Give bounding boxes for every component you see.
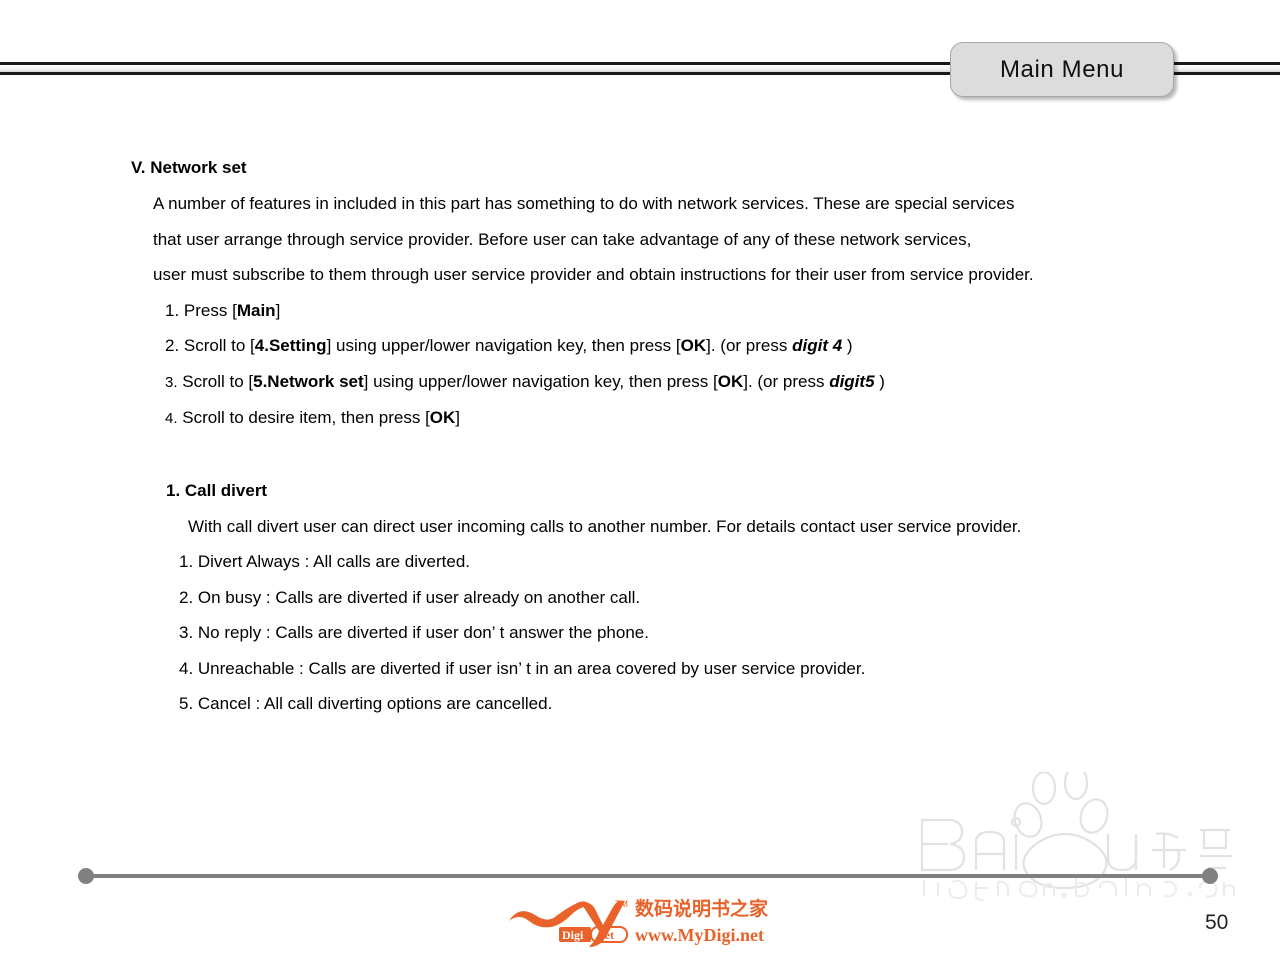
document-content: V. Network set A number of features in i… [0, 150, 1280, 722]
step-text-mid: ] using upper/lower navigation key, then… [327, 336, 681, 355]
call-divert-option-5: 5. Cancel : All call diverting options a… [179, 686, 1280, 722]
section-heading: V. Network set [131, 150, 1280, 186]
step-item-1: 1. Press [Main] [165, 293, 1280, 329]
step-number: 2. [165, 336, 179, 355]
intro-line-3: user must subscribe to them through user… [153, 257, 1280, 293]
step-item-4: 4. Scroll to desire item, then press [OK… [165, 400, 1280, 437]
intro-line-1: A number of features in included in this… [153, 186, 1280, 222]
subsection-heading-call-divert: 1. Call divert [166, 473, 1280, 509]
step-text-pre: Scroll to [ [182, 372, 253, 391]
step-text-mid: ] using upper/lower navigation key, then… [364, 372, 718, 391]
footer-line [86, 874, 1210, 878]
step-text-post: ]. (or press [743, 372, 829, 391]
step-text-emphasis: digit 4 [792, 336, 842, 355]
footer-rule [78, 868, 1218, 884]
step-text-bold: OK [430, 408, 456, 427]
call-divert-option-3: 3. No reply : Calls are diverted if user… [179, 615, 1280, 651]
step-text-pre: Scroll to [ [184, 336, 255, 355]
header-tab-label: Main Menu [1000, 56, 1124, 84]
mydigi-logo: TM Digi .net 数码说明书之家 www.MyDigi.net [505, 893, 795, 949]
step-text-bold: Main [237, 301, 276, 320]
logo-url-text: www.MyDigi.net [635, 925, 764, 945]
step-text-post: ] [455, 408, 460, 427]
step-text-bold2: OK [681, 336, 707, 355]
logo-tm-mark: TM [615, 899, 628, 909]
logo-net-text: .net [595, 928, 614, 942]
page-number: 50 [1205, 911, 1228, 935]
section-spacer [0, 437, 1280, 473]
call-divert-option-2: 2. On busy : Calls are diverted if user … [179, 580, 1280, 616]
logo-digi-text: Digi [562, 928, 584, 942]
intro-line-2: that user arrange through service provid… [153, 222, 1280, 258]
step-text-bold2: OK [718, 372, 744, 391]
step-number: 3. [165, 374, 178, 391]
step-text-post: ]. (or press [706, 336, 792, 355]
step-item-2: 2. Scroll to [4.Setting] using upper/low… [165, 328, 1280, 364]
logo-chinese-text: 数码说明书之家 [635, 897, 769, 920]
step-number: 1. [165, 301, 179, 320]
call-divert-option-4: 4. Unreachable : Calls are diverted if u… [179, 651, 1280, 687]
footer-dot-right-icon [1202, 868, 1218, 884]
step-text-bold: 4.Setting [255, 336, 327, 355]
call-divert-option-1: 1. Divert Always : All calls are diverte… [179, 544, 1280, 580]
subsection-body: With call divert user can direct user in… [188, 509, 1280, 545]
step-number: 4. [165, 410, 178, 427]
step-text-tail: ) [875, 372, 885, 391]
step-text-pre: Press [ [184, 301, 237, 320]
step-text-tail: ) [842, 336, 852, 355]
step-text-bold: 5.Network set [253, 372, 364, 391]
step-text-emphasis: digit5 [829, 372, 874, 391]
step-item-3: 3. Scroll to [5.Network set] using upper… [165, 364, 1280, 401]
step-text-pre: Scroll to desire item, then press [ [182, 408, 430, 427]
header-tab-main-menu: Main Menu [950, 42, 1174, 97]
step-text-post: ] [276, 301, 281, 320]
page-header: Main Menu [0, 0, 1280, 120]
